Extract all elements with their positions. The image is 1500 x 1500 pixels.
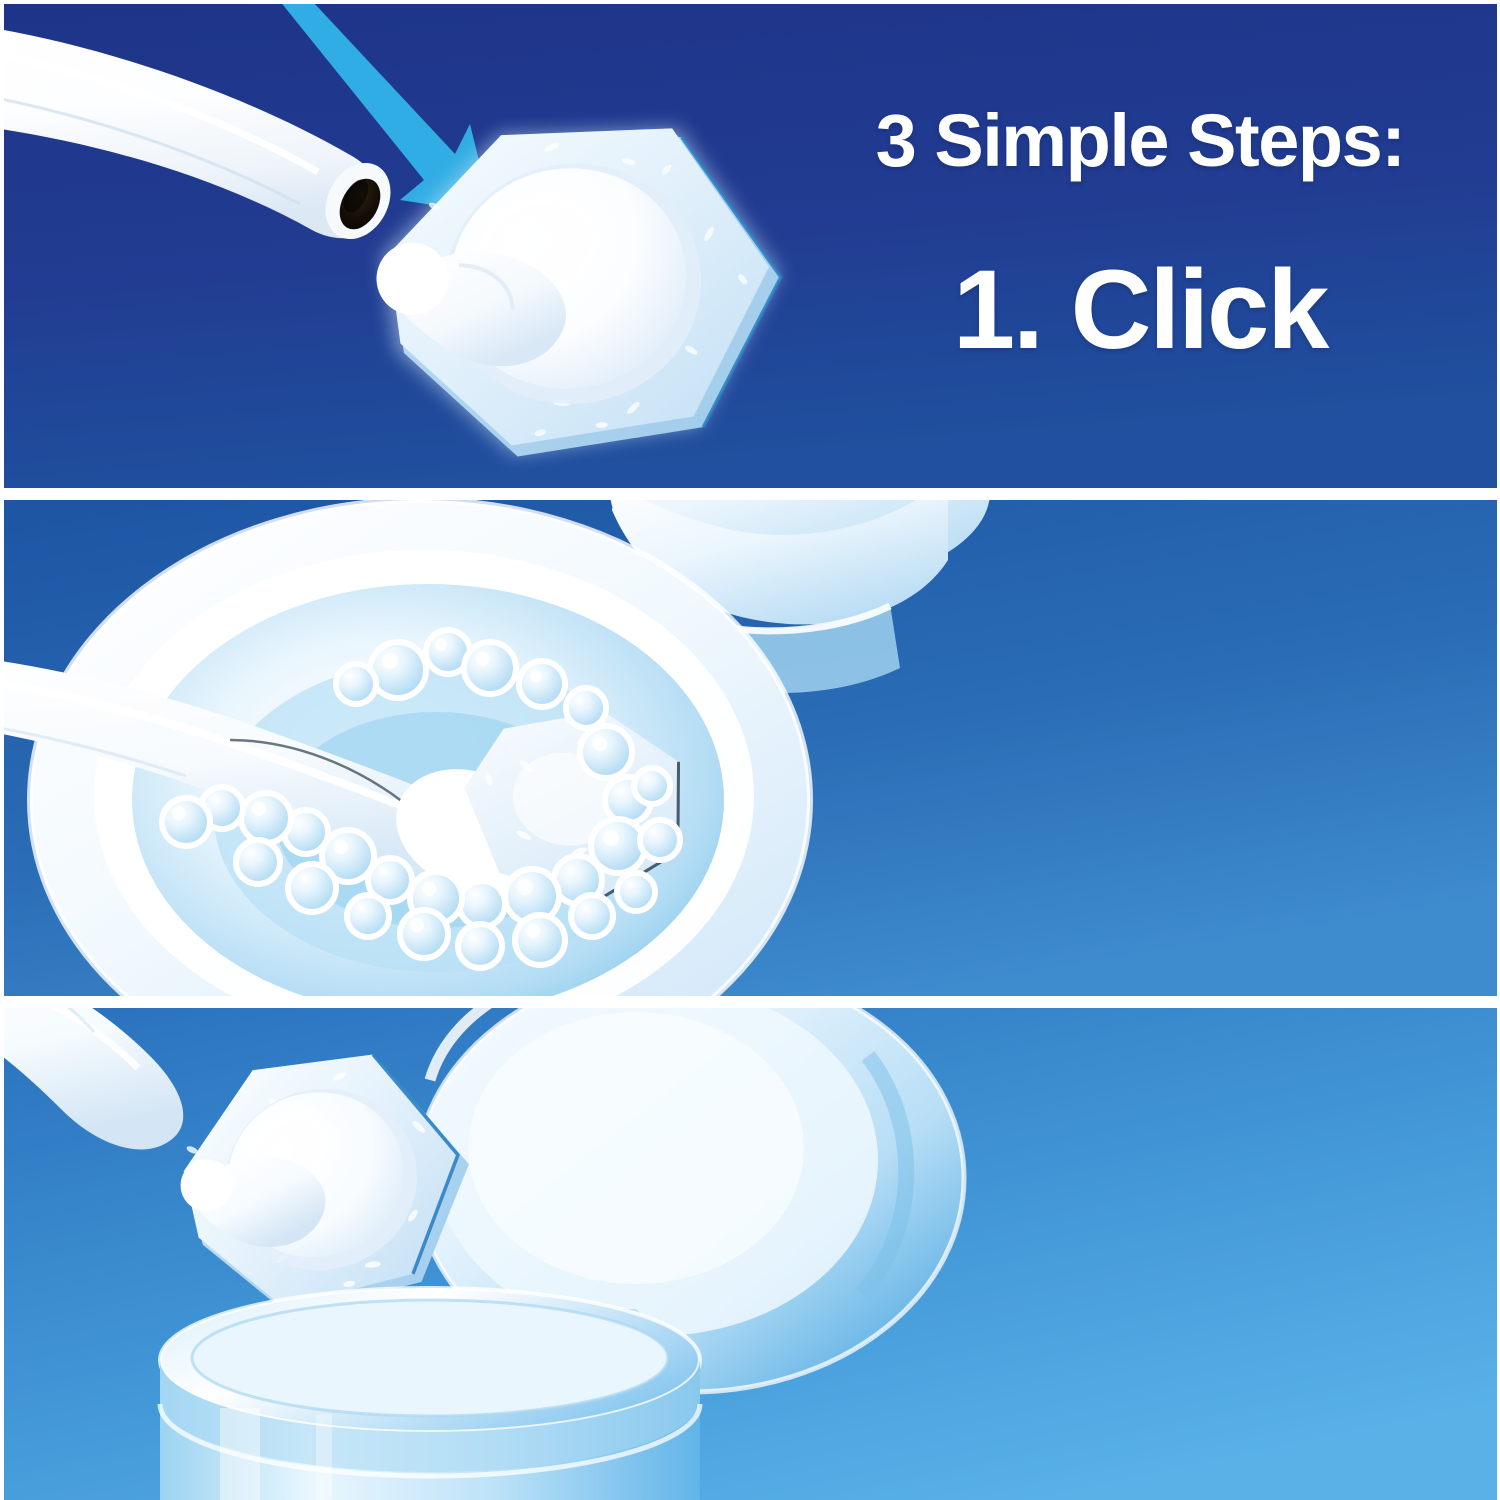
panel-click-illustration [0, 4, 1500, 488]
panel-step-click: 3 Simple Steps: 1. Click [0, 4, 1500, 488]
panel-step-swish: 2. Swish [0, 500, 1500, 996]
frame-edge-top [0, 0, 1500, 4]
step-label-click: 1. Click [860, 254, 1420, 366]
panel-toss-illustration [0, 1008, 1500, 1500]
panel-swish-illustration [0, 500, 1500, 996]
page-title: 3 Simple Steps: [860, 102, 1420, 180]
panel-divider-1 [0, 488, 1500, 500]
trash-can-shape [160, 1288, 700, 1500]
infographic-root: 3 Simple Steps: 1. Click [0, 0, 1500, 1500]
panel-step-toss: 3. Toss [0, 1008, 1500, 1500]
panel-divider-2 [0, 996, 1500, 1008]
frame-edge-left [0, 0, 4, 1500]
